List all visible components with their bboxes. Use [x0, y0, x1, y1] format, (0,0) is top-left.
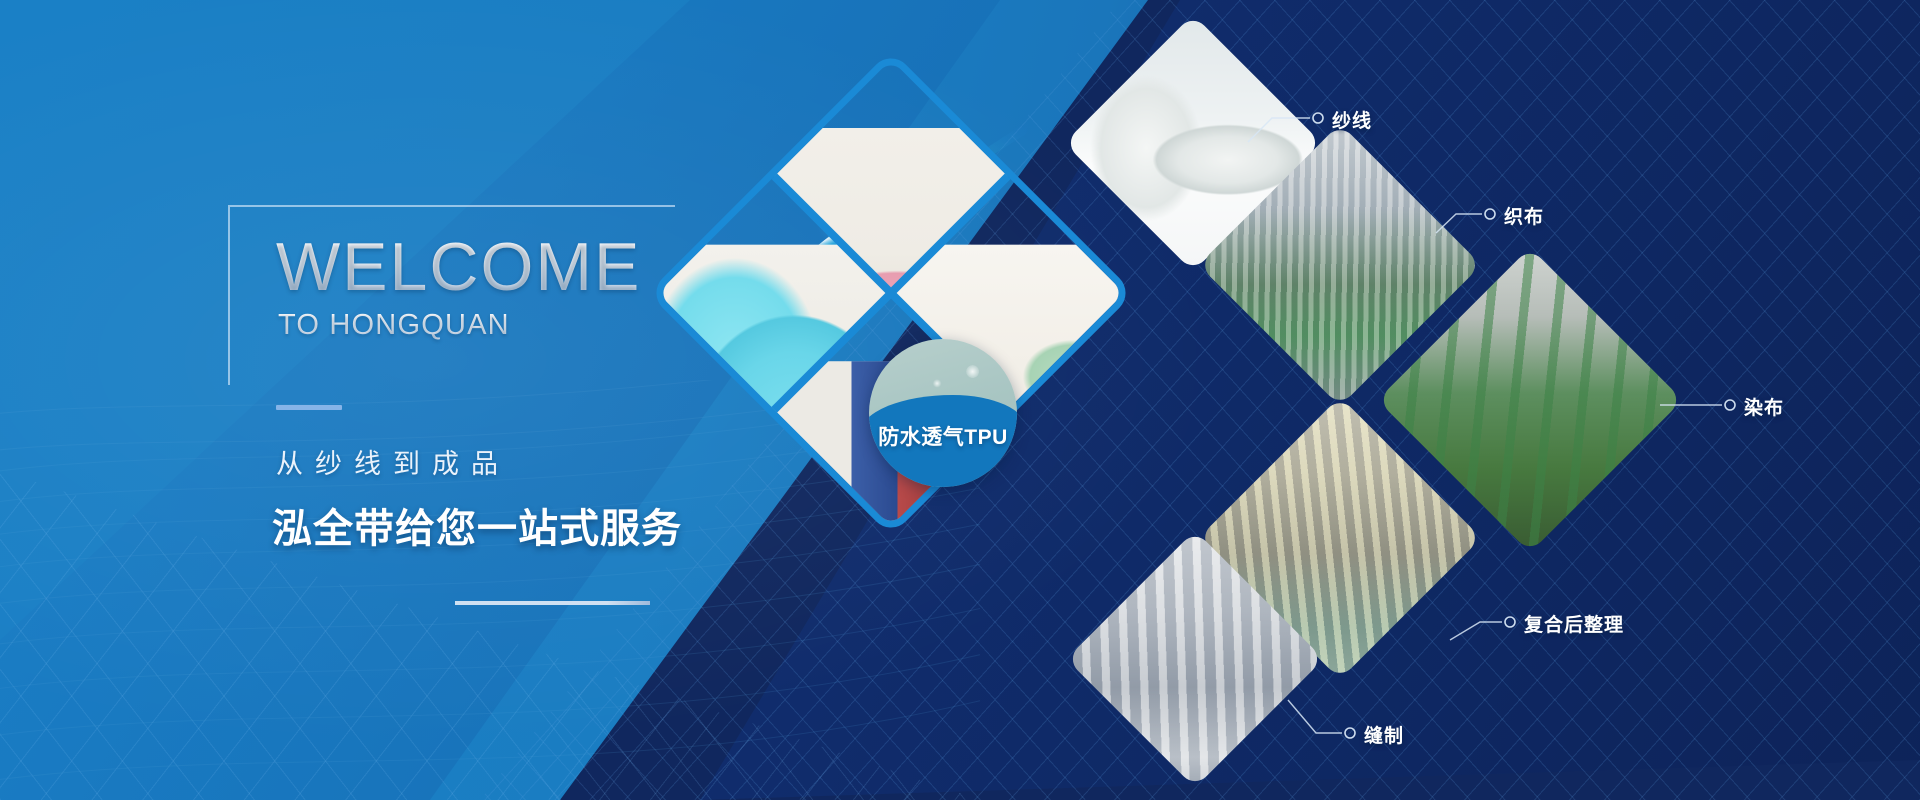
tpu-badge-label: 防水透气TPU [869, 421, 1017, 451]
process-label-weaving: 织布 [1504, 202, 1544, 229]
accent-rule [276, 405, 342, 410]
subheadline-brand: TO HONGQUAN [278, 309, 510, 342]
hero-banner: WELCOME TO HONGQUAN 从纱线到成品 泓全带给您一站式服务 [0, 0, 1920, 800]
process-label-finishing: 复合后整理 [1524, 610, 1624, 637]
process-label-dyeing: 染布 [1744, 393, 1784, 420]
tpu-feature-badge: 防水透气TPU [869, 339, 1017, 487]
process-label-sewing: 缝制 [1364, 721, 1404, 748]
headline-welcome: WELCOME [276, 233, 641, 301]
process-label-yarn: 纱线 [1332, 106, 1372, 133]
bottom-divider-rule [455, 601, 650, 605]
headline-chinese: 泓全带给您一站式服务 [272, 496, 682, 554]
tagline-chinese: 从纱线到成品 [276, 442, 510, 481]
